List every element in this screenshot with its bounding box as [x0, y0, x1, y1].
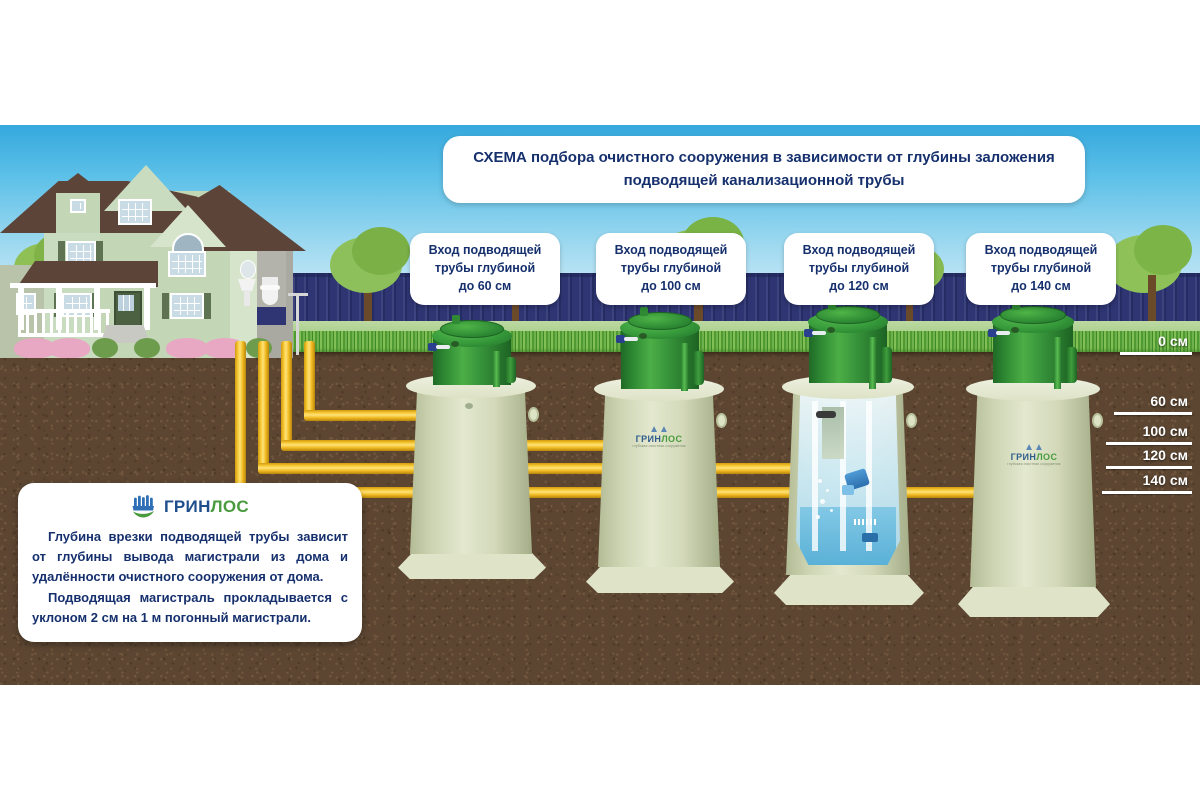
depth-label: 120 см: [1143, 447, 1188, 463]
infographic-root: ▲▲ ГРИНЛОС глубокая очистная сооружения: [0, 0, 1200, 800]
brand-part1: ГРИН: [636, 434, 662, 444]
brand-part1: ГРИН: [1011, 452, 1037, 462]
brand-part2: ЛОС: [1036, 452, 1057, 462]
depth-label: 100 см: [1143, 423, 1188, 439]
brand-tagline: глубокая очистная сооружения: [992, 463, 1076, 466]
callout-line-3: до 60 см: [414, 278, 556, 296]
callout-line-2: трубы глубиной: [600, 260, 742, 278]
depth-label: 60 см: [1150, 393, 1188, 409]
callout-60: Вход подводящей трубы глубиной до 60 см: [410, 233, 560, 305]
info-paragraph-1: Глубина врезки подводящей трубы зависит …: [32, 527, 348, 586]
callout-line-3: до 120 см: [788, 278, 930, 296]
callout-line-3: до 100 см: [600, 278, 742, 296]
chart-title: СХЕМА подбора очистного сооружения в зав…: [443, 136, 1085, 203]
tank-decal: ▲▲ ГРИНЛОС глубокая очистная сооружения: [618, 425, 700, 448]
callout-line-2: трубы глубиной: [414, 260, 556, 278]
window: [70, 199, 86, 213]
brand-logo: ГРИНЛОС: [32, 494, 348, 520]
depth-label: 0 см: [1158, 333, 1188, 349]
house: [0, 143, 320, 358]
brand-name-part2: ЛОС: [211, 497, 249, 516]
pipe-drop-100: [281, 341, 292, 446]
pipe-drop-140: [235, 341, 246, 493]
greenlos-logo-icon: [131, 494, 157, 520]
pipe-run-120: [258, 463, 823, 474]
callout-line-2: трубы глубиной: [970, 260, 1112, 278]
callout-line-2: трубы глубиной: [788, 260, 930, 278]
info-box: ГРИНЛОС Глубина врезки подводящей трубы …: [18, 483, 362, 642]
info-paragraph-2: Подводящая магистраль прокладывается с у…: [32, 588, 348, 628]
window: [170, 293, 204, 319]
depth-label: 140 см: [1143, 472, 1188, 488]
window: [168, 251, 206, 277]
pipe-drop-60: [304, 341, 315, 416]
callout-line-1: Вход подводящей: [414, 242, 556, 260]
window: [118, 199, 152, 225]
pipe-drop-120: [258, 341, 269, 469]
callout-line-1: Вход подводящей: [788, 242, 930, 260]
callout-100: Вход подводящей трубы глубиной до 100 см: [596, 233, 746, 305]
mirror-icon: [240, 260, 256, 279]
title-line-1: СХЕМА подбора очистного сооружения в зав…: [473, 149, 971, 166]
tank-decal: ▲▲ ГРИНЛОС глубокая очистная сооружения: [992, 443, 1076, 466]
brand-tagline: глубокая очистная сооружения: [618, 445, 700, 448]
brand-name-part1: ГРИН: [164, 497, 211, 516]
brand-part2: ЛОС: [661, 434, 682, 444]
callout-140: Вход подводящей трубы глубиной до 140 см: [966, 233, 1116, 305]
callout-line-1: Вход подводящей: [970, 242, 1112, 260]
callout-line-3: до 140 см: [970, 278, 1112, 296]
callout-120: Вход подводящей трубы глубиной до 120 см: [784, 233, 934, 305]
tank-cutaway-interior: [796, 393, 900, 565]
callout-line-1: Вход подводящей: [600, 242, 742, 260]
